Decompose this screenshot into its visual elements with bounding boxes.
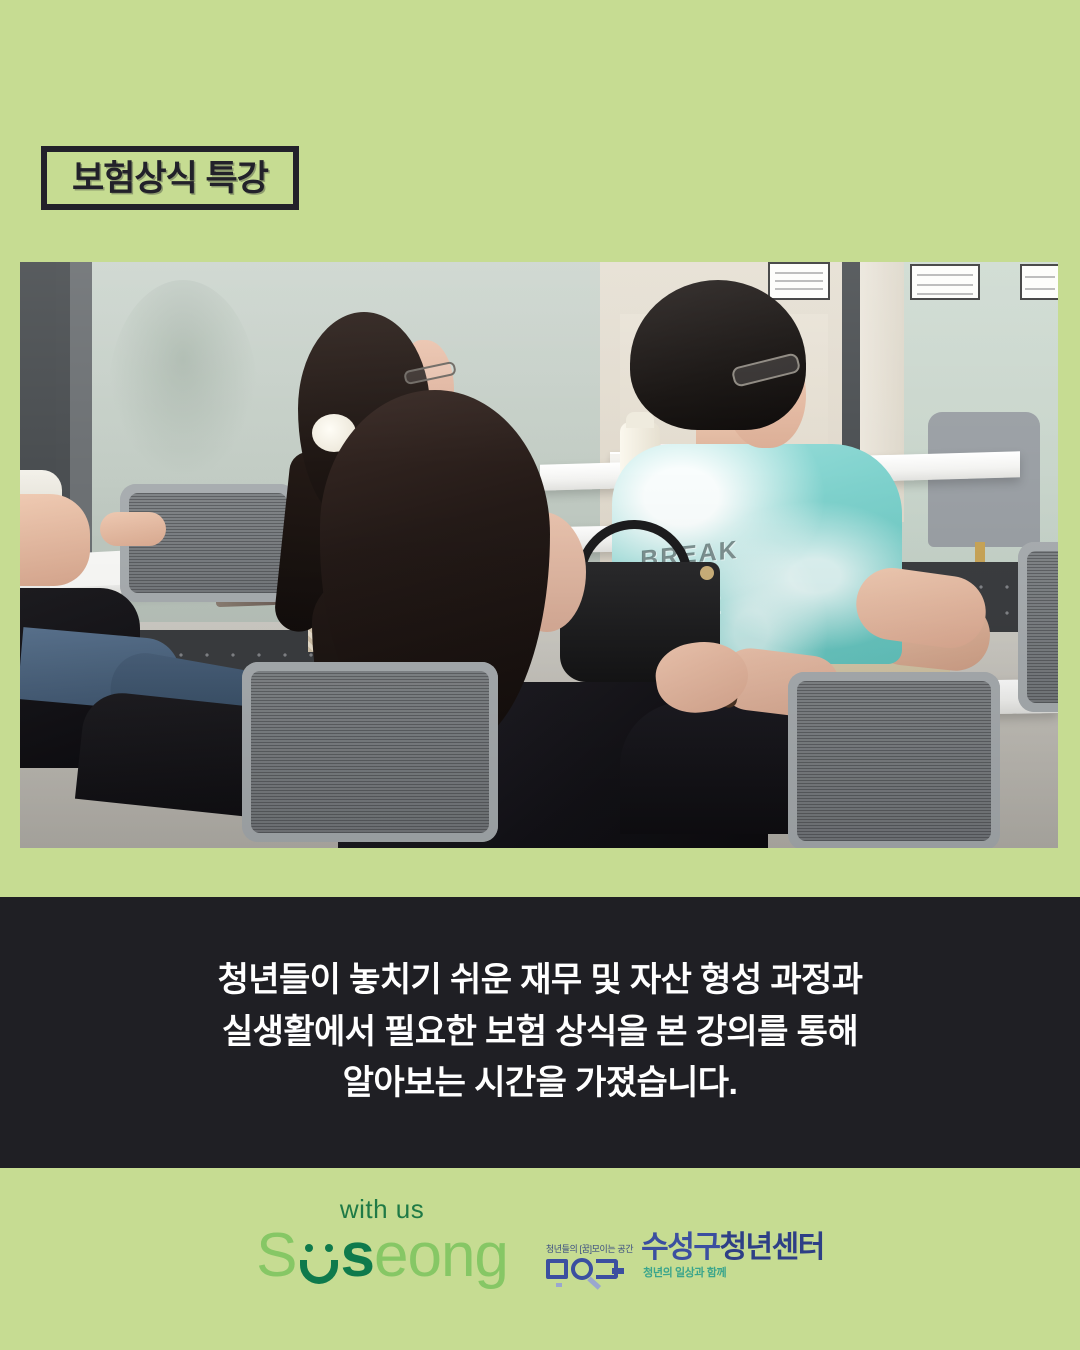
youth-center-subtitle: 청년의 일상과 함께: [643, 1264, 726, 1280]
youth-center-title-prefix: 수성구: [641, 1231, 719, 1264]
caption-text: 청년들이 놓치기 쉬운 재무 및 자산 형성 과정과 실생활에서 필요한 보험 …: [218, 955, 863, 1110]
youth-center-title: 수성구청년센터: [641, 1233, 824, 1263]
suseong-wordmark: S s eong: [256, 1227, 508, 1286]
top-section: 보험상식 특강: [0, 0, 1080, 897]
office-chair: [788, 672, 1000, 848]
office-chair: [1018, 542, 1058, 712]
youth-center-logo: 청년들의 [꿈]모이는 공간 수성구청년센터 청년의 일상과 함께: [546, 1233, 824, 1286]
photo-scene: BREAK THE GAME: [20, 262, 1058, 848]
suseong-letter-s2: s: [341, 1227, 374, 1286]
youth-center-title-main: 청년센터: [719, 1231, 823, 1264]
water-bottle-cap: [626, 412, 654, 428]
moud-mark-block: 청년들의 [꿈]모이는 공간: [546, 1242, 633, 1280]
monitor-icon: [546, 1259, 568, 1279]
caption-line-2: 실생활에서 필요한 보험 상식을 본 강의를 통해: [218, 1007, 863, 1059]
title-badge: 보험상식 특강: [41, 146, 299, 210]
attendee-left-arm: [20, 494, 90, 586]
youth-center-text: 수성구청년센터 청년의 일상과 함께: [641, 1233, 824, 1280]
suseong-letter-s1: S: [256, 1227, 296, 1286]
magnifier-icon: [571, 1258, 593, 1280]
lounge-chair: [928, 412, 1040, 547]
office-chair: [242, 662, 498, 842]
wall-notice-frame: [768, 262, 830, 300]
caption-line-3: 알아보는 시간을 가졌습니다.: [218, 1058, 863, 1110]
footer: with us S s eong 청년들의 [꿈]모이는 공간: [0, 1168, 1080, 1350]
footer-logos: with us S s eong 청년들의 [꿈]모이는 공간: [0, 1194, 1080, 1286]
lecture-photo: BREAK THE GAME: [20, 262, 1058, 848]
page-title: 보험상식 특강: [72, 161, 268, 196]
suseong-logo: with us S s eong: [256, 1194, 508, 1286]
wall-notice-frame: [910, 264, 980, 300]
attendee-left-hand: [100, 512, 166, 546]
suseong-letters-eong: eong: [374, 1227, 508, 1286]
suseong-letter-u-smile: [298, 1242, 340, 1286]
moud-tagline: 청년들의 [꿈]모이는 공간: [546, 1242, 633, 1255]
caption-line-1: 청년들이 놓치기 쉬운 재무 및 자산 형성 과정과: [218, 955, 863, 1007]
caption-band: 청년들이 놓치기 쉬운 재무 및 자산 형성 과정과 실생활에서 필요한 보험 …: [0, 897, 1080, 1168]
wall-notice-frame: [1020, 264, 1058, 300]
moud-symbol: [546, 1258, 618, 1280]
bracket-icon: [596, 1259, 618, 1279]
